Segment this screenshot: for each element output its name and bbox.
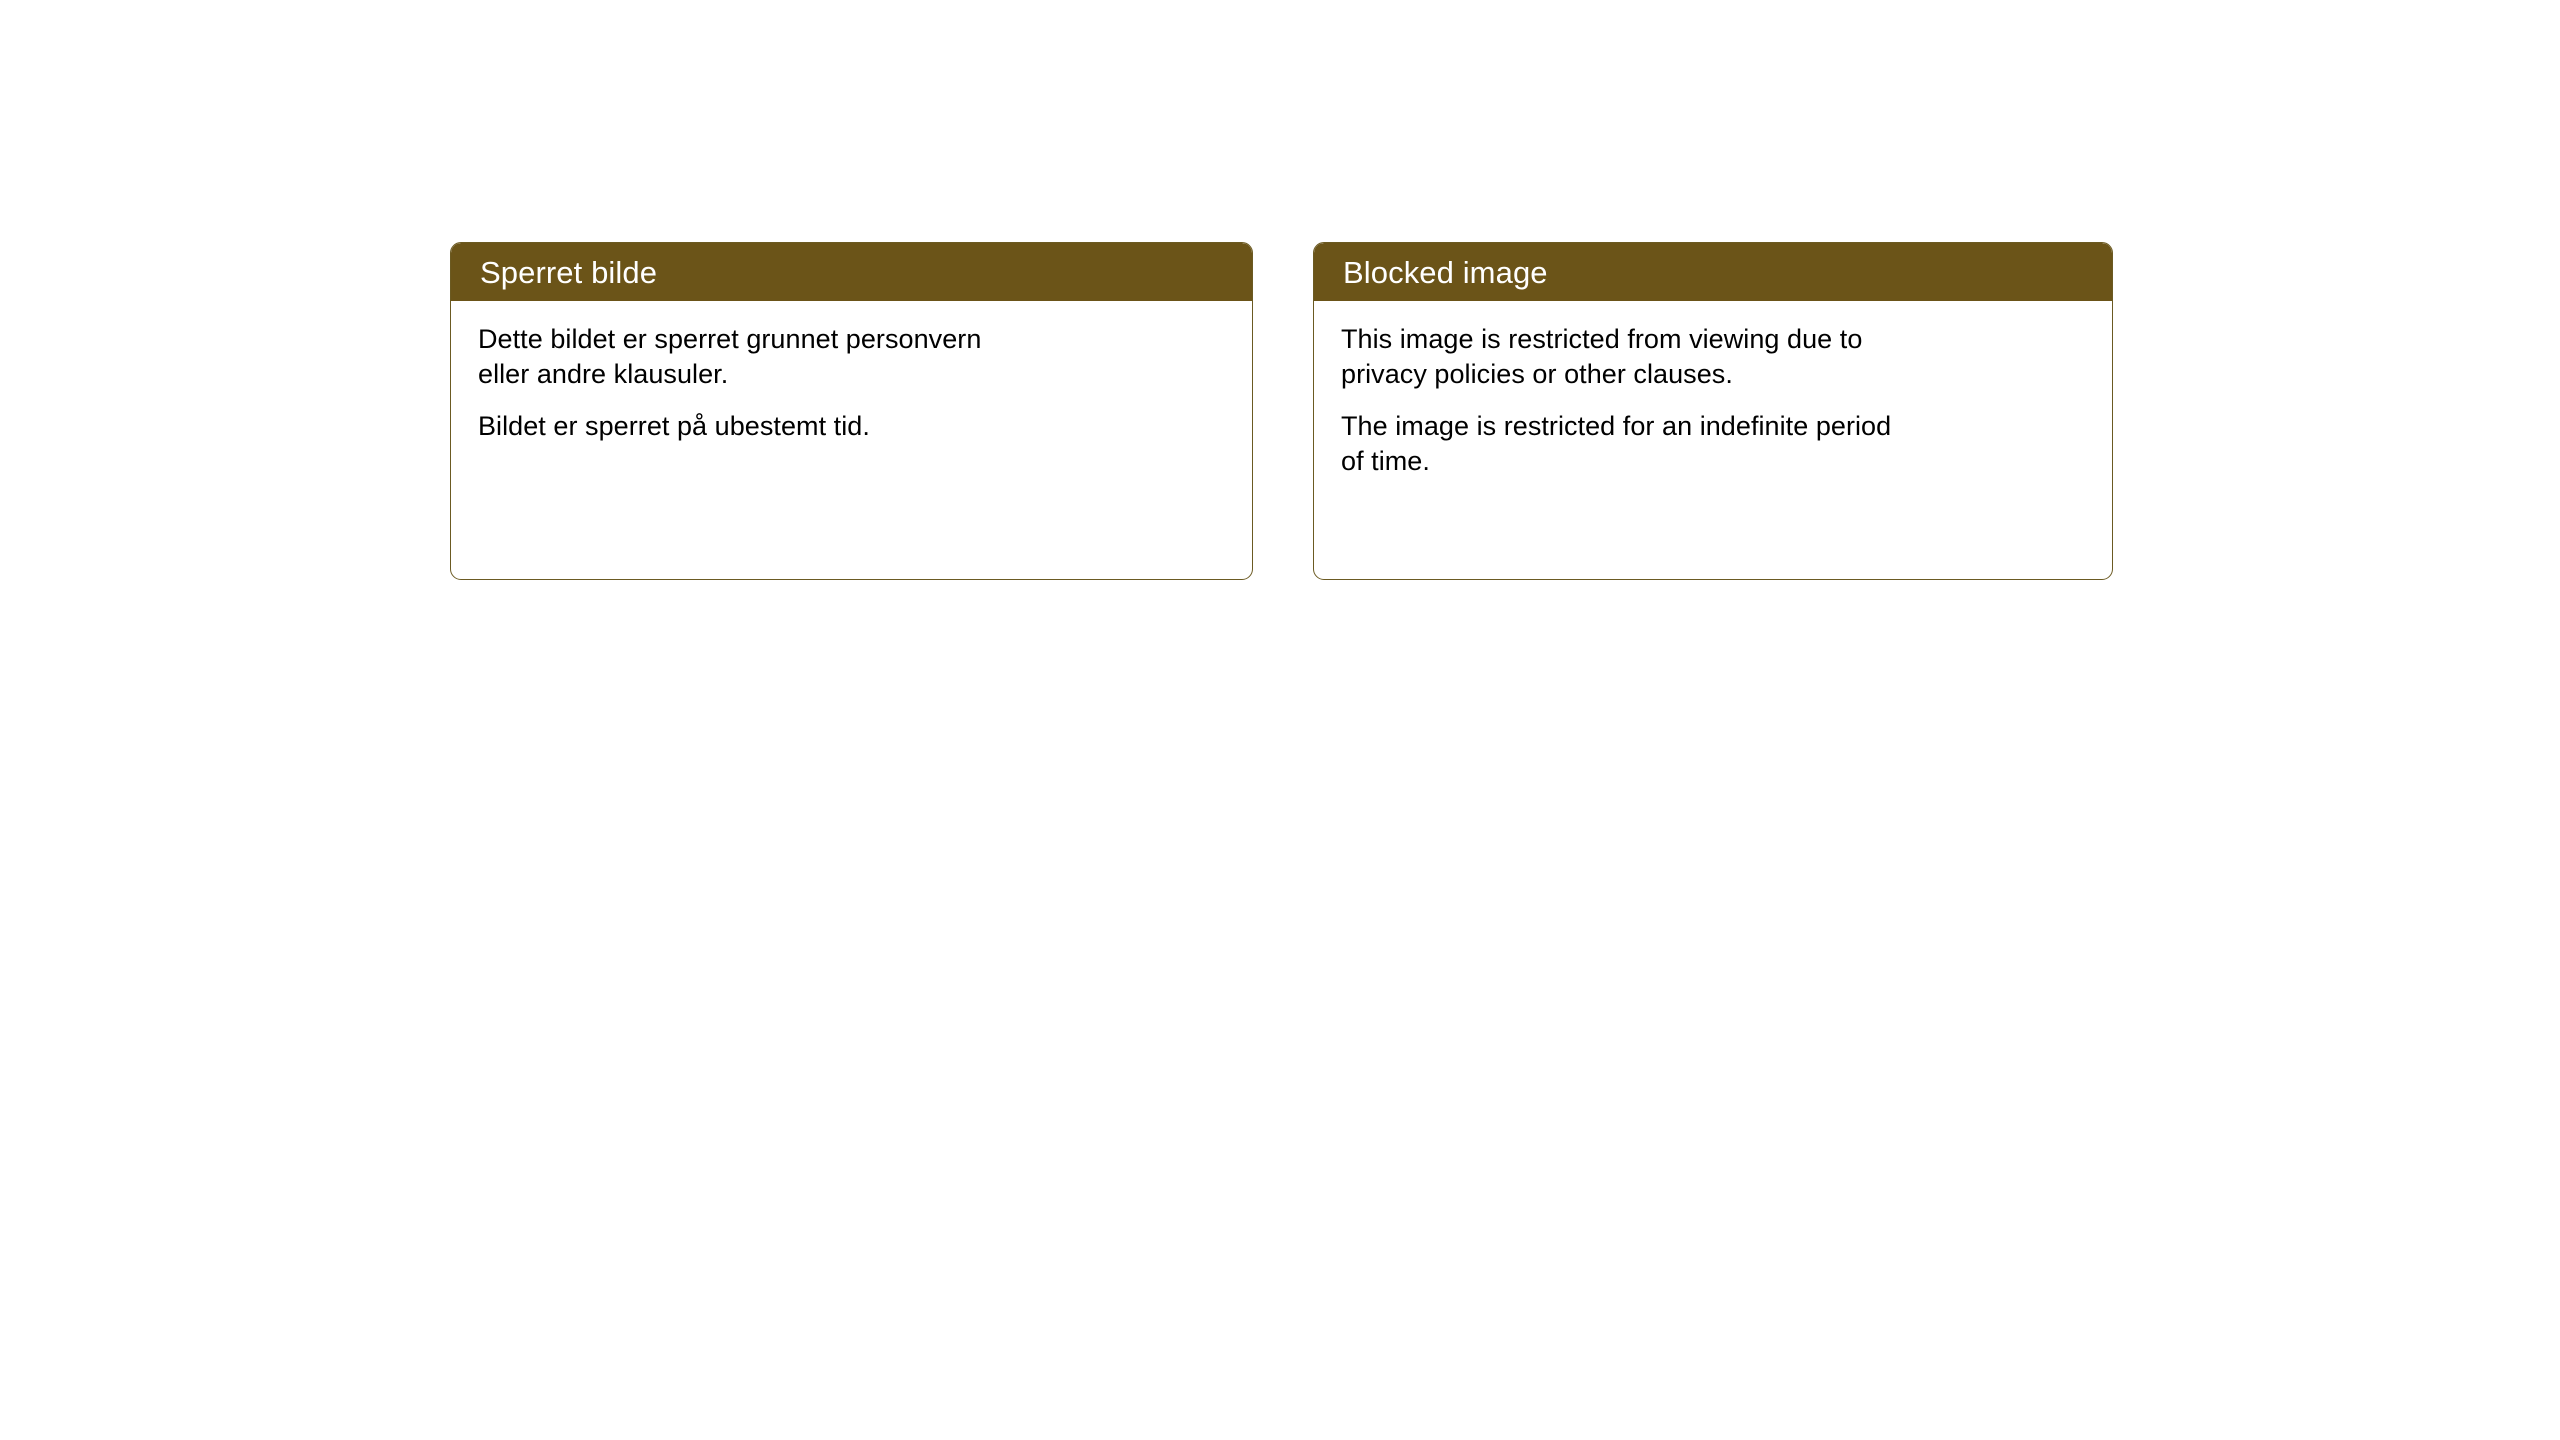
- page-canvas: Sperret bilde Dette bildet er sperret gr…: [0, 0, 2560, 1440]
- notice-line: privacy policies or other clauses.: [1341, 357, 2088, 392]
- notice-paragraph-primary-english: This image is restricted from viewing du…: [1341, 322, 2088, 392]
- paragraph-spacer: [478, 392, 1228, 409]
- card-header-english: Blocked image: [1314, 243, 2112, 301]
- blocked-image-card-norwegian: Sperret bilde Dette bildet er sperret gr…: [450, 242, 1253, 580]
- paragraph-spacer: [1341, 392, 2088, 409]
- card-header-norwegian: Sperret bilde: [451, 243, 1252, 301]
- notice-line: The image is restricted for an indefinit…: [1341, 409, 2088, 444]
- notice-paragraph-primary-norwegian: Dette bildet er sperret grunnet personve…: [478, 322, 1228, 392]
- notice-line: Bildet er sperret på ubestemt tid.: [478, 409, 1228, 444]
- notice-line: This image is restricted from viewing du…: [1341, 322, 2088, 357]
- notice-paragraph-secondary-norwegian: Bildet er sperret på ubestemt tid.: [478, 409, 1228, 444]
- card-body-english: This image is restricted from viewing du…: [1314, 301, 2112, 479]
- notice-line: of time.: [1341, 444, 2088, 479]
- blocked-image-card-english: Blocked image This image is restricted f…: [1313, 242, 2113, 580]
- card-body-norwegian: Dette bildet er sperret grunnet personve…: [451, 301, 1252, 444]
- card-title-norwegian: Sperret bilde: [480, 257, 657, 288]
- notice-line: eller andre klausuler.: [478, 357, 1228, 392]
- notice-paragraph-secondary-english: The image is restricted for an indefinit…: [1341, 409, 2088, 479]
- card-title-english: Blocked image: [1343, 257, 1548, 288]
- notice-line: Dette bildet er sperret grunnet personve…: [478, 322, 1228, 357]
